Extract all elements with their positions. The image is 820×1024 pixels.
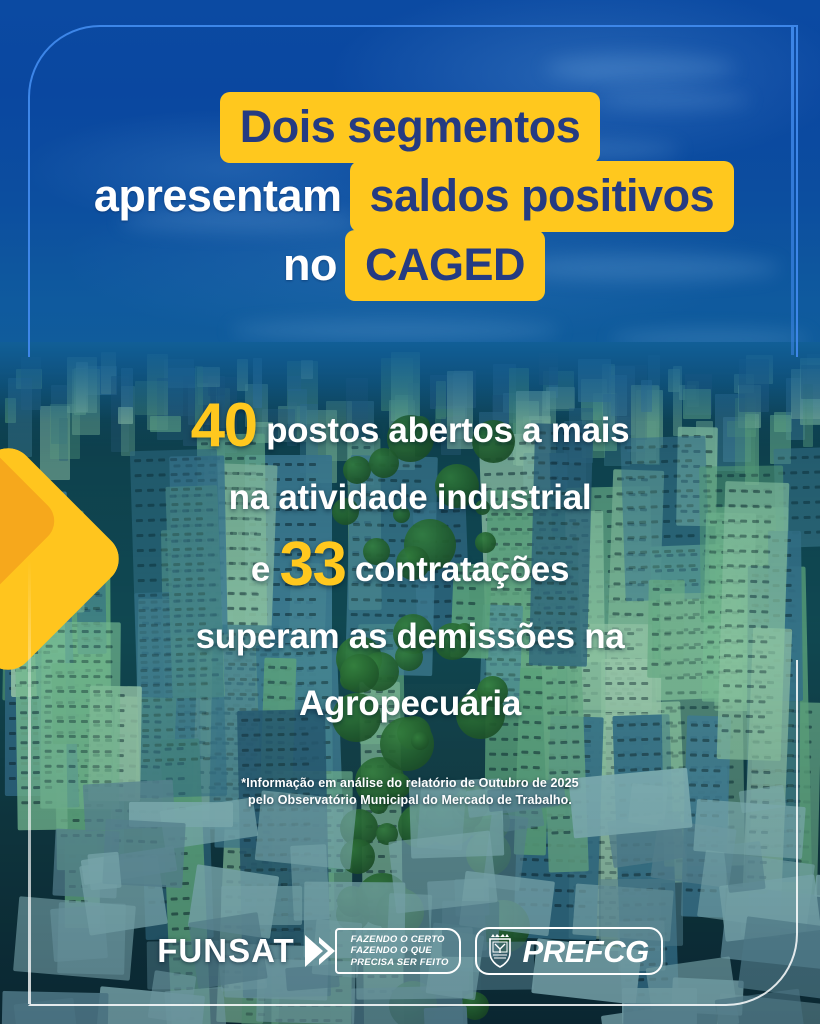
statement-block: 40 postos abertos a mais na atividade in… (0, 392, 820, 737)
headline-chip-saldos-positivos: saldos positivos (350, 161, 735, 232)
footer-logos: FUNSAT FAZENDO O CERTO FAZENDO O QUE PRE… (0, 922, 820, 980)
footnote: *Informação em análise do relatório de O… (0, 775, 820, 809)
headline-word-apresentam: apresentam (86, 161, 350, 232)
statement-line-3: e 33 contratações (0, 531, 820, 603)
double-chevron-icon (303, 931, 347, 971)
headline-line-3: no CAGED (0, 230, 820, 301)
statement-line-3-text: contratações (355, 550, 569, 589)
footnote-line-1: *Informação em análise do relatório de O… (0, 775, 820, 792)
headline-chip-dois-segmentos: Dois segmentos (220, 92, 601, 163)
statement-line-3-prefix: e (251, 550, 270, 589)
stat-number-33: 33 (279, 530, 345, 599)
tagline-box: FAZENDO O CERTO FAZENDO O QUE PRECISA SE… (335, 928, 461, 975)
headline-line-1: Dois segmentos (0, 92, 820, 163)
footnote-line-2: pelo Observatório Municipal do Mercado d… (0, 792, 820, 809)
tagline-line-1: FAZENDO O CERTO (351, 934, 449, 946)
prefcg-wordmark: PREFCG (523, 936, 649, 967)
funsat-logo: FUNSAT (157, 932, 294, 970)
tagline-line-3: PRECISA SER FEITO (351, 957, 449, 969)
poster-canvas: Dois segmentos apresentam saldos positiv… (0, 0, 820, 1024)
statement-line-5: Agropecuária (0, 670, 820, 737)
statement-line-4: superam as demissões na (0, 603, 820, 670)
statement-line-1-text: postos abertos a mais (266, 411, 629, 450)
headline-line-2: apresentam saldos positivos (0, 161, 820, 232)
stat-number-40: 40 (191, 391, 257, 460)
statement-line-1: 40 postos abertos a mais (0, 392, 820, 464)
headline-block: Dois segmentos apresentam saldos positiv… (0, 92, 820, 303)
headline-chip-caged: CAGED (345, 230, 545, 301)
prefcg-logo-box: PREFCG (475, 927, 663, 975)
tagline-line-2: FAZENDO O QUE (351, 945, 449, 957)
statement-line-2: na atividade industrial (0, 464, 820, 531)
coat-of-arms-icon (485, 933, 515, 969)
headline-word-no: no (275, 230, 345, 301)
